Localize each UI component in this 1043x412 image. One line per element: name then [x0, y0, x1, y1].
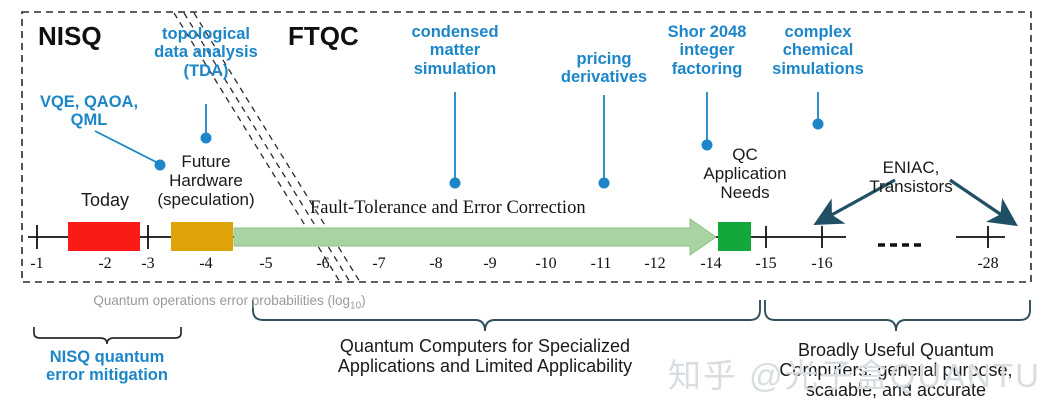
axis-tick--11: -11 — [591, 255, 612, 273]
axis-tick--6: -6 — [316, 255, 329, 273]
axis-tick--10: -10 — [535, 255, 556, 273]
axis-tick--3: -3 — [141, 255, 154, 273]
axis-tick--15: -15 — [755, 255, 776, 273]
axis-caption: Quantum operations error probabilities (… — [78, 278, 365, 327]
diagram-canvas: NISQ FTQC VQE, QAOA, QML topological dat… — [0, 0, 1043, 412]
bracket-label-nisq-error-mitigation: NISQ quantum error mitigation — [46, 348, 168, 385]
axis-tick--12: -12 — [644, 255, 665, 273]
callout-label-condensed-matter-simulation: condensed matter simulation — [411, 23, 498, 78]
label-qc-application-needs: QC Application Needs — [703, 145, 786, 202]
bracket-label-specialized-applications: Quantum Computers for Specialized Applic… — [338, 336, 632, 376]
section-heading-ftqc: FTQC — [288, 22, 359, 51]
axis-tick--5: -5 — [259, 255, 272, 273]
axis-tick--1: -1 — [30, 255, 43, 273]
axis-caption-main: Quantum operations error probabilities (… — [93, 293, 350, 308]
axis-tick--14: -14 — [700, 255, 721, 273]
today-bar — [68, 222, 140, 251]
axis-tick--28: -28 — [977, 255, 998, 273]
label-future-hardware: Future Hardware (speculation) — [157, 152, 254, 209]
nisq-bracket — [34, 327, 181, 344]
axis-tick--2: -2 — [98, 255, 111, 273]
qc-target-bar — [718, 222, 751, 251]
axis-caption-subscript: 10 — [350, 301, 361, 312]
callout-label-topological-data-analysis: topological data analysis (TDA) — [154, 25, 258, 80]
axis-caption-close: ) — [361, 293, 366, 308]
speculation-bar — [171, 222, 233, 251]
label-fault-tolerance: Fault-Tolerance and Error Correction — [310, 198, 586, 219]
label-eniac-transistors: ENIAC, Transistors — [869, 158, 952, 196]
section-heading-nisq: NISQ — [38, 22, 102, 51]
axis-tick--4: -4 — [199, 255, 212, 273]
broadly-useful-bracket — [765, 300, 1030, 331]
axis-tick--9: -9 — [483, 255, 496, 273]
callout-label-vqe-qaoa-qml: VQE, QAOA, QML — [40, 93, 138, 130]
callout-label-shor-integer-factoring: Shor 2048 integer factoring — [668, 23, 747, 78]
label-today: Today — [81, 190, 129, 210]
axis-tick--7: -7 — [372, 255, 385, 273]
axis-tick--16: -16 — [811, 255, 832, 273]
axis-tick--8: -8 — [429, 255, 442, 273]
callout-label-pricing-derivatives: pricing derivatives — [561, 50, 647, 87]
bracket-label-broadly-useful: Broadly Useful Quantum Computers: genera… — [779, 340, 1012, 400]
callout-label-complex-chemical-simulations: complex chemical simulations — [772, 23, 864, 78]
fault-tolerance-arrow — [234, 219, 716, 255]
